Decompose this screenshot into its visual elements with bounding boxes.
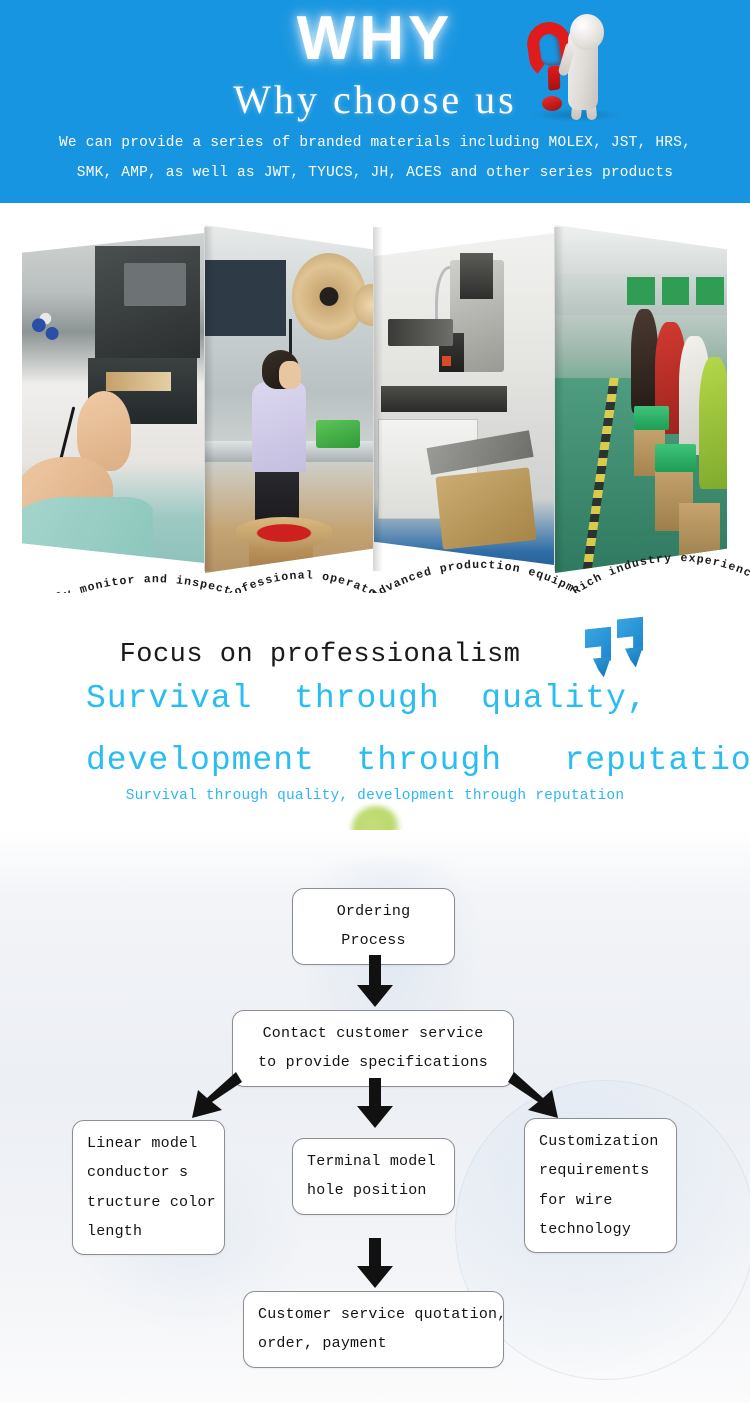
slogan-cyan-line-2: development through reputation [86,742,726,779]
flow-node-linear-model-text: Linear model conductor s tructure color … [87,1129,210,1246]
flow-node-terminal-model-text: Terminal model hole position [307,1147,440,1206]
svg-text:Strictly monitor and inspect: Strictly monitor and inspect [11,573,234,593]
caption-strictly-monitor-and-inspect: Strictly monitor and inspect [5,563,245,593]
question-mark-mascot-icon [520,8,630,128]
header-description-line-1: We can provide a series of branded mater… [30,128,720,158]
flow-node-customization-requirements-text: Customization requirements for wire tech… [539,1127,662,1244]
photo-collage: Strictly monitor and inspect Professiona… [0,203,750,593]
photo-operator [205,225,373,573]
flow-node-customization-requirements[interactable]: Customization requirements for wire tech… [524,1118,677,1253]
collage-fold-1 [204,227,214,571]
slogan-focus-line: Focus on professionalism [0,640,750,670]
collage-fold-3 [554,227,564,571]
caption-text-1: Strictly monitor and inspect [11,573,234,593]
page-title-why: WHY [0,8,750,70]
flow-node-ordering-process-text: Ordering Process [307,897,440,956]
header-description: We can provide a series of branded mater… [30,128,720,189]
flow-node-contact-customer-service[interactable]: Contact customer service to provide spec… [232,1010,514,1087]
page-subtitle: Why choose us [0,78,750,122]
mascot-head [570,14,604,50]
photo-assembly-line [555,225,727,573]
slogan-small-line: Survival through quality, development th… [0,788,750,804]
photo-inspection [22,233,204,563]
arrow-down-right-to-custom [508,1072,560,1120]
question-mark-dot [542,96,562,111]
flow-node-ordering-process[interactable]: Ordering Process [292,888,455,965]
photo-equipment [374,233,554,565]
flow-node-contact-customer-service-text: Contact customer service to provide spec… [247,1019,499,1078]
caption-rich-industry-experience: Rich industry experience [570,555,750,593]
header-banner: WHY Why choose us We can provide a serie… [0,0,750,203]
flow-node-customer-service-quotation[interactable]: Customer service quotation, order, payme… [243,1291,504,1368]
flow-node-terminal-model[interactable]: Terminal model hole position [292,1138,455,1215]
caption-text-2: Professional operators [218,569,393,593]
flow-node-linear-model[interactable]: Linear model conductor s tructure color … [72,1120,225,1255]
slogan-cyan-line-1: Survival through quality, [86,680,726,717]
flow-node-customer-service-quotation-text: Customer service quotation, order, payme… [258,1300,489,1359]
collage-fold-2 [373,227,383,571]
arrow-down-to-terminal [355,1078,395,1128]
arrow-down-to-quote [355,1238,395,1288]
svg-text:Professional operators: Professional operators [218,569,393,593]
arrow-down-left-to-linear [190,1072,242,1120]
arrow-down-order-to-contact [355,955,395,1007]
header-description-line-2: SMK, AMP, as well as JWT, TYUCS, JH, ACE… [30,158,720,188]
